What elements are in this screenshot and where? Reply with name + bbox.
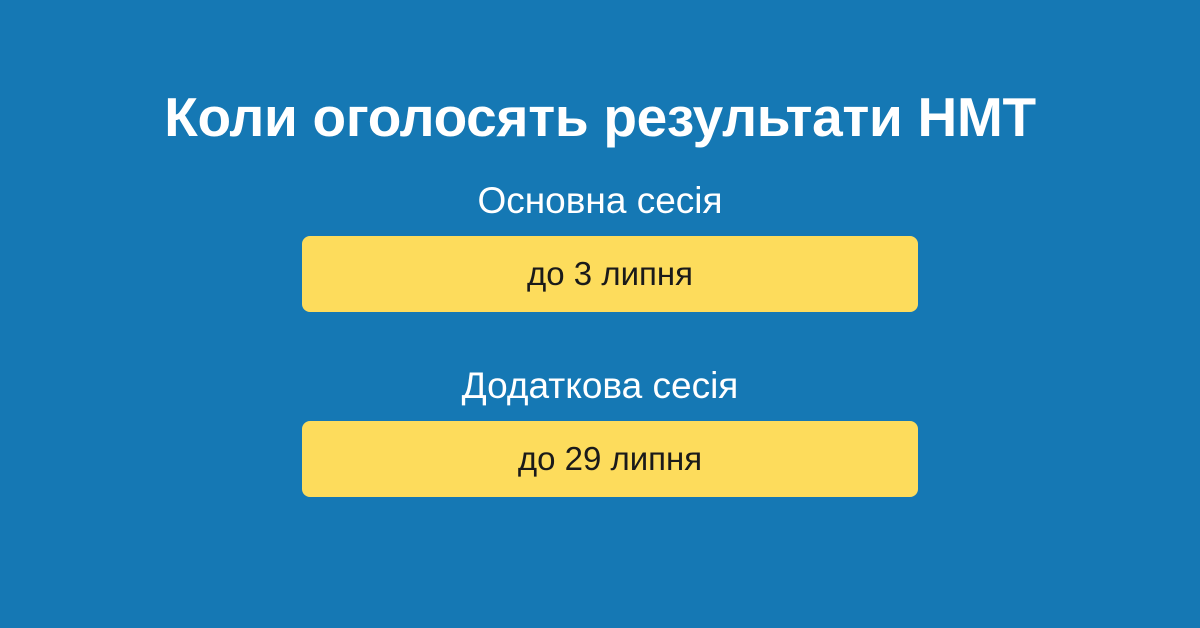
session-label-main: Основна сесія <box>0 178 1200 223</box>
session-block-additional: Додаткова сесія до 29 липня <box>0 363 1200 408</box>
page-title: Коли оголосять результати НМТ <box>0 83 1200 151</box>
session-block-main: Основна сесія до 3 липня <box>0 178 1200 223</box>
infographic-canvas: Коли оголосять результати НМТ Основна се… <box>0 0 1200 628</box>
date-pill-additional: до 29 липня <box>302 421 918 497</box>
date-text-additional: до 29 липня <box>518 439 702 479</box>
session-label-additional: Додаткова сесія <box>0 363 1200 408</box>
date-text-main: до 3 липня <box>527 254 693 294</box>
date-pill-main: до 3 липня <box>302 236 918 312</box>
